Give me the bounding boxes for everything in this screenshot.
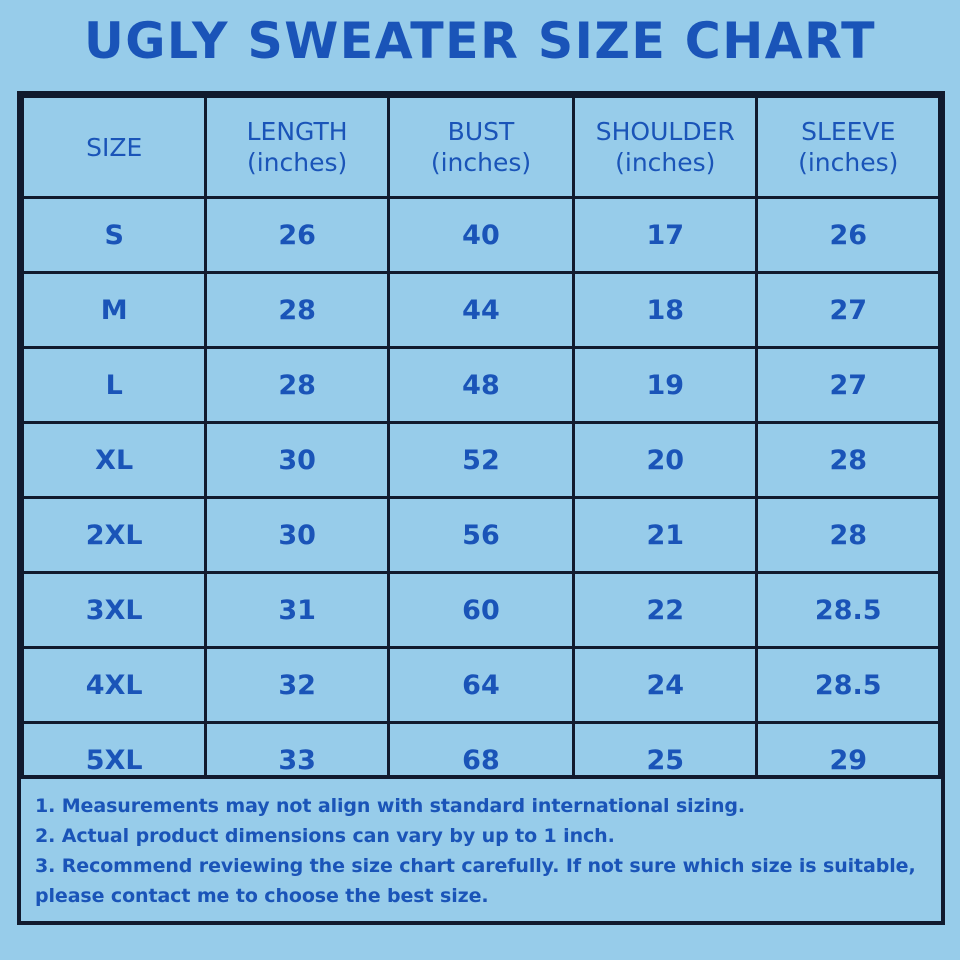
cell-sleeve: 27 xyxy=(757,348,940,423)
cell-length: 32 xyxy=(206,648,388,723)
cell-sleeve: 26 xyxy=(757,198,940,273)
table-row: S 26 40 17 26 xyxy=(23,198,940,273)
cell-size: S xyxy=(23,198,206,273)
note-item-1: 1. Measurements may not align with stand… xyxy=(35,791,927,821)
cell-shoulder: 18 xyxy=(574,273,757,348)
size-chart-page: UGLY SWEATER SIZE CHART SIZE LENGTH (inc… xyxy=(0,0,960,960)
cell-size: L xyxy=(23,348,206,423)
cell-sleeve: 28 xyxy=(757,423,940,498)
column-header-length-name: LENGTH xyxy=(247,117,348,146)
column-header-sleeve-name: SLEEVE xyxy=(801,117,895,146)
cell-bust: 48 xyxy=(388,348,573,423)
cell-length: 31 xyxy=(206,573,388,648)
cell-shoulder: 22 xyxy=(574,573,757,648)
table-row: M 28 44 18 27 xyxy=(23,273,940,348)
cell-sleeve: 28.5 xyxy=(757,648,940,723)
column-header-bust-name: BUST xyxy=(448,117,515,146)
column-header-shoulder-name: SHOULDER xyxy=(596,117,735,146)
column-header-shoulder-unit: (inches) xyxy=(575,147,755,178)
cell-sleeve: 28 xyxy=(757,498,940,573)
column-header-sleeve-unit: (inches) xyxy=(758,147,938,178)
cell-length: 30 xyxy=(206,423,388,498)
cell-bust: 56 xyxy=(388,498,573,573)
column-header-sleeve: SLEEVE (inches) xyxy=(757,97,940,198)
cell-shoulder: 17 xyxy=(574,198,757,273)
column-header-size: SIZE xyxy=(23,97,206,198)
column-header-length-unit: (inches) xyxy=(207,147,386,178)
cell-shoulder: 21 xyxy=(574,498,757,573)
cell-length: 28 xyxy=(206,348,388,423)
cell-length: 28 xyxy=(206,273,388,348)
column-header-shoulder: SHOULDER (inches) xyxy=(574,97,757,198)
notes-box: 1. Measurements may not align with stand… xyxy=(17,775,945,925)
table-row: 2XL 30 56 21 28 xyxy=(23,498,940,573)
cell-sleeve: 27 xyxy=(757,273,940,348)
cell-size: 4XL xyxy=(23,648,206,723)
table-row: 4XL 32 64 24 28.5 xyxy=(23,648,940,723)
size-chart-table: SIZE LENGTH (inches) BUST (inches) SHOUL… xyxy=(21,95,941,799)
cell-sleeve: 28.5 xyxy=(757,573,940,648)
cell-bust: 60 xyxy=(388,573,573,648)
cell-shoulder: 24 xyxy=(574,648,757,723)
cell-length: 26 xyxy=(206,198,388,273)
cell-bust: 40 xyxy=(388,198,573,273)
page-title: UGLY SWEATER SIZE CHART xyxy=(10,10,951,72)
cell-shoulder: 19 xyxy=(574,348,757,423)
cell-shoulder: 20 xyxy=(574,423,757,498)
column-header-length: LENGTH (inches) xyxy=(206,97,388,198)
note-item-3: 3. Recommend reviewing the size chart ca… xyxy=(35,851,927,911)
column-header-bust-unit: (inches) xyxy=(390,147,572,178)
cell-size: 3XL xyxy=(23,573,206,648)
column-header-size-name: SIZE xyxy=(86,133,142,162)
cell-size: XL xyxy=(23,423,206,498)
table-header-row: SIZE LENGTH (inches) BUST (inches) SHOUL… xyxy=(23,97,940,198)
cell-bust: 52 xyxy=(388,423,573,498)
cell-length: 30 xyxy=(206,498,388,573)
cell-bust: 64 xyxy=(388,648,573,723)
table-row: L 28 48 19 27 xyxy=(23,348,940,423)
size-chart-table-container: SIZE LENGTH (inches) BUST (inches) SHOUL… xyxy=(17,91,945,803)
cell-bust: 44 xyxy=(388,273,573,348)
cell-size: 2XL xyxy=(23,498,206,573)
note-item-2: 2. Actual product dimensions can vary by… xyxy=(35,821,927,851)
table-row: XL 30 52 20 28 xyxy=(23,423,940,498)
column-header-bust: BUST (inches) xyxy=(388,97,573,198)
cell-size: M xyxy=(23,273,206,348)
table-row: 3XL 31 60 22 28.5 xyxy=(23,573,940,648)
